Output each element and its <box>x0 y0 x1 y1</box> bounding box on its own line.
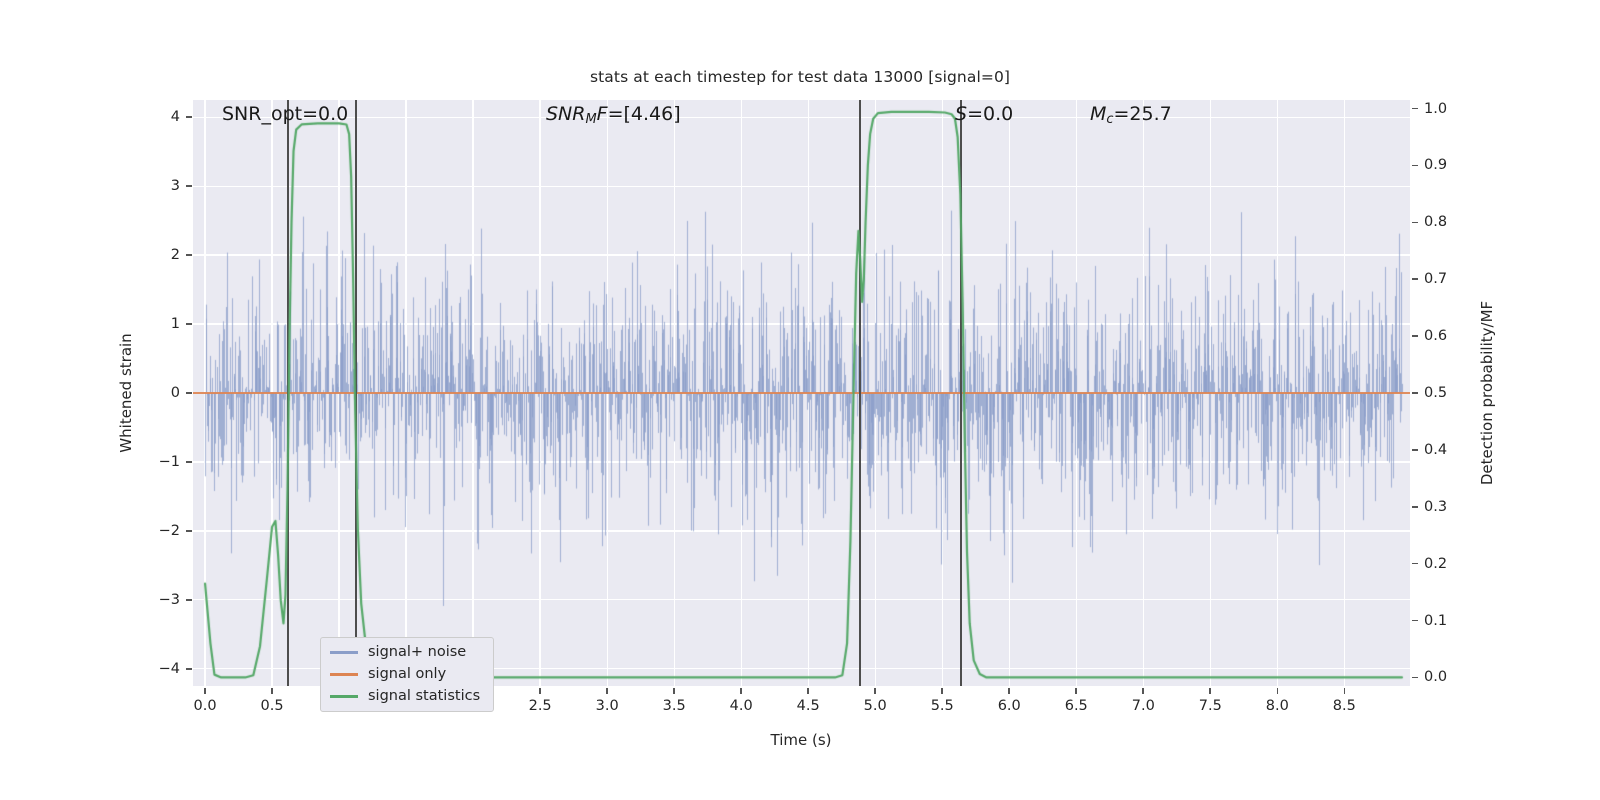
x-axis-label: Time (s) <box>771 731 832 749</box>
x-tick-mark <box>271 688 273 694</box>
y-tick-mark-right <box>1412 449 1418 451</box>
y-tick-label-right: 0.6 <box>1424 328 1447 344</box>
x-tick-mark <box>740 688 742 694</box>
x-tick-label: 2.5 <box>529 698 552 714</box>
y-tick-label-left: 0 <box>138 385 180 401</box>
y-tick-label-left: −3 <box>138 592 180 608</box>
y-tick-mark-right <box>1412 278 1418 280</box>
y-tick-mark-right <box>1412 222 1418 224</box>
chart-legend[interactable]: signal+ noisesignal onlysignal statistic… <box>320 637 494 712</box>
y-tick-mark-left <box>186 530 192 532</box>
annotation-snr-opt: SNR_opt=0.0 <box>222 105 348 124</box>
y-axis-label-left: Whitened strain <box>117 333 135 452</box>
x-tick-mark <box>1344 688 1346 694</box>
x-tick-label: 5.0 <box>864 698 887 714</box>
x-tick-mark <box>204 688 206 694</box>
y-tick-label-left: 1 <box>138 316 180 332</box>
y-tick-mark-left <box>186 599 192 601</box>
annotation-snr-mf: SNRMF=[4.46] <box>546 105 681 127</box>
x-tick-mark <box>941 688 943 694</box>
y-tick-label-left: −1 <box>138 454 180 470</box>
y-tick-label-right: 1.0 <box>1424 101 1447 117</box>
y-tick-label-right: 0.9 <box>1424 157 1447 173</box>
y-tick-label-left: 3 <box>138 178 180 194</box>
y-tick-mark-left <box>186 116 192 118</box>
y-tick-label-right: 0.4 <box>1424 442 1447 458</box>
y-tick-label-right: 0.3 <box>1424 499 1447 515</box>
y-tick-label-right: 0.7 <box>1424 271 1447 287</box>
x-tick-mark <box>1277 688 1279 694</box>
y-tick-mark-left <box>186 392 192 394</box>
y-tick-mark-right <box>1412 506 1418 508</box>
x-tick-label: 5.5 <box>931 698 954 714</box>
annotation-s-stat: S=0.0 <box>955 105 1013 124</box>
y-tick-mark-right <box>1412 165 1418 167</box>
x-tick-label: 6.5 <box>1065 698 1088 714</box>
x-tick-label: 3.0 <box>596 698 619 714</box>
x-tick-mark <box>1008 688 1010 694</box>
y-tick-mark-right <box>1412 108 1418 110</box>
legend-item[interactable]: signal only <box>330 667 480 682</box>
y-tick-mark-left <box>186 185 192 187</box>
x-tick-mark <box>807 688 809 694</box>
y-tick-label-right: 0.2 <box>1424 556 1447 572</box>
x-tick-mark <box>1142 688 1144 694</box>
legend-item[interactable]: signal statistics <box>330 689 480 704</box>
x-tick-label: 4.5 <box>797 698 820 714</box>
annotation-mchirp: Mc=25.7 <box>1090 105 1172 127</box>
y-tick-label-right: 0.0 <box>1424 669 1447 685</box>
y-tick-label-left: 2 <box>138 247 180 263</box>
plot-area: SNR_opt=0.0SNRMF=[4.46]S=0.0Mc=25.7 <box>193 100 1410 686</box>
x-tick-label: 3.5 <box>663 698 686 714</box>
y-tick-mark-left <box>186 461 192 463</box>
y-tick-label-left: −4 <box>138 661 180 677</box>
x-tick-label: 7.5 <box>1199 698 1222 714</box>
legend-label: signal statistics <box>368 689 480 704</box>
y-tick-label-right: 0.8 <box>1424 214 1447 230</box>
legend-swatch-icon <box>330 651 358 653</box>
y-tick-mark-right <box>1412 335 1418 337</box>
y-tick-label-right: 0.5 <box>1424 385 1447 401</box>
y-tick-mark-right <box>1412 392 1418 394</box>
x-tick-mark <box>673 688 675 694</box>
annotation-layer: SNR_opt=0.0SNRMF=[4.46]S=0.0Mc=25.7 <box>193 100 1410 686</box>
x-tick-label: 6.0 <box>998 698 1021 714</box>
y-tick-label-right: 0.1 <box>1424 613 1447 629</box>
x-tick-label: 8.5 <box>1333 698 1356 714</box>
y-tick-mark-right <box>1412 563 1418 565</box>
figure-canvas: stats at each timestep for test data 130… <box>0 0 1600 800</box>
legend-item[interactable]: signal+ noise <box>330 645 480 660</box>
x-tick-mark <box>874 688 876 694</box>
x-tick-label: 0.0 <box>194 698 217 714</box>
y-tick-mark-left <box>186 668 192 670</box>
chart-title: stats at each timestep for test data 130… <box>0 68 1600 86</box>
x-tick-label: 0.5 <box>261 698 284 714</box>
y-axis-label-right: Detection probability/MF <box>1478 301 1496 485</box>
x-tick-label: 7.0 <box>1132 698 1155 714</box>
x-tick-mark <box>1075 688 1077 694</box>
y-tick-label-left: 4 <box>138 109 180 125</box>
legend-swatch-icon <box>330 673 358 675</box>
x-tick-label: 8.0 <box>1266 698 1289 714</box>
x-tick-label: 4.0 <box>730 698 753 714</box>
y-tick-mark-right <box>1412 620 1418 622</box>
y-tick-mark-right <box>1412 677 1418 679</box>
y-tick-label-left: −2 <box>138 523 180 539</box>
legend-swatch-icon <box>330 695 358 697</box>
y-tick-mark-left <box>186 254 192 256</box>
x-tick-mark <box>539 688 541 694</box>
x-tick-mark <box>606 688 608 694</box>
legend-label: signal+ noise <box>368 645 466 660</box>
x-tick-mark <box>1209 688 1211 694</box>
y-tick-mark-left <box>186 323 192 325</box>
legend-label: signal only <box>368 667 446 682</box>
